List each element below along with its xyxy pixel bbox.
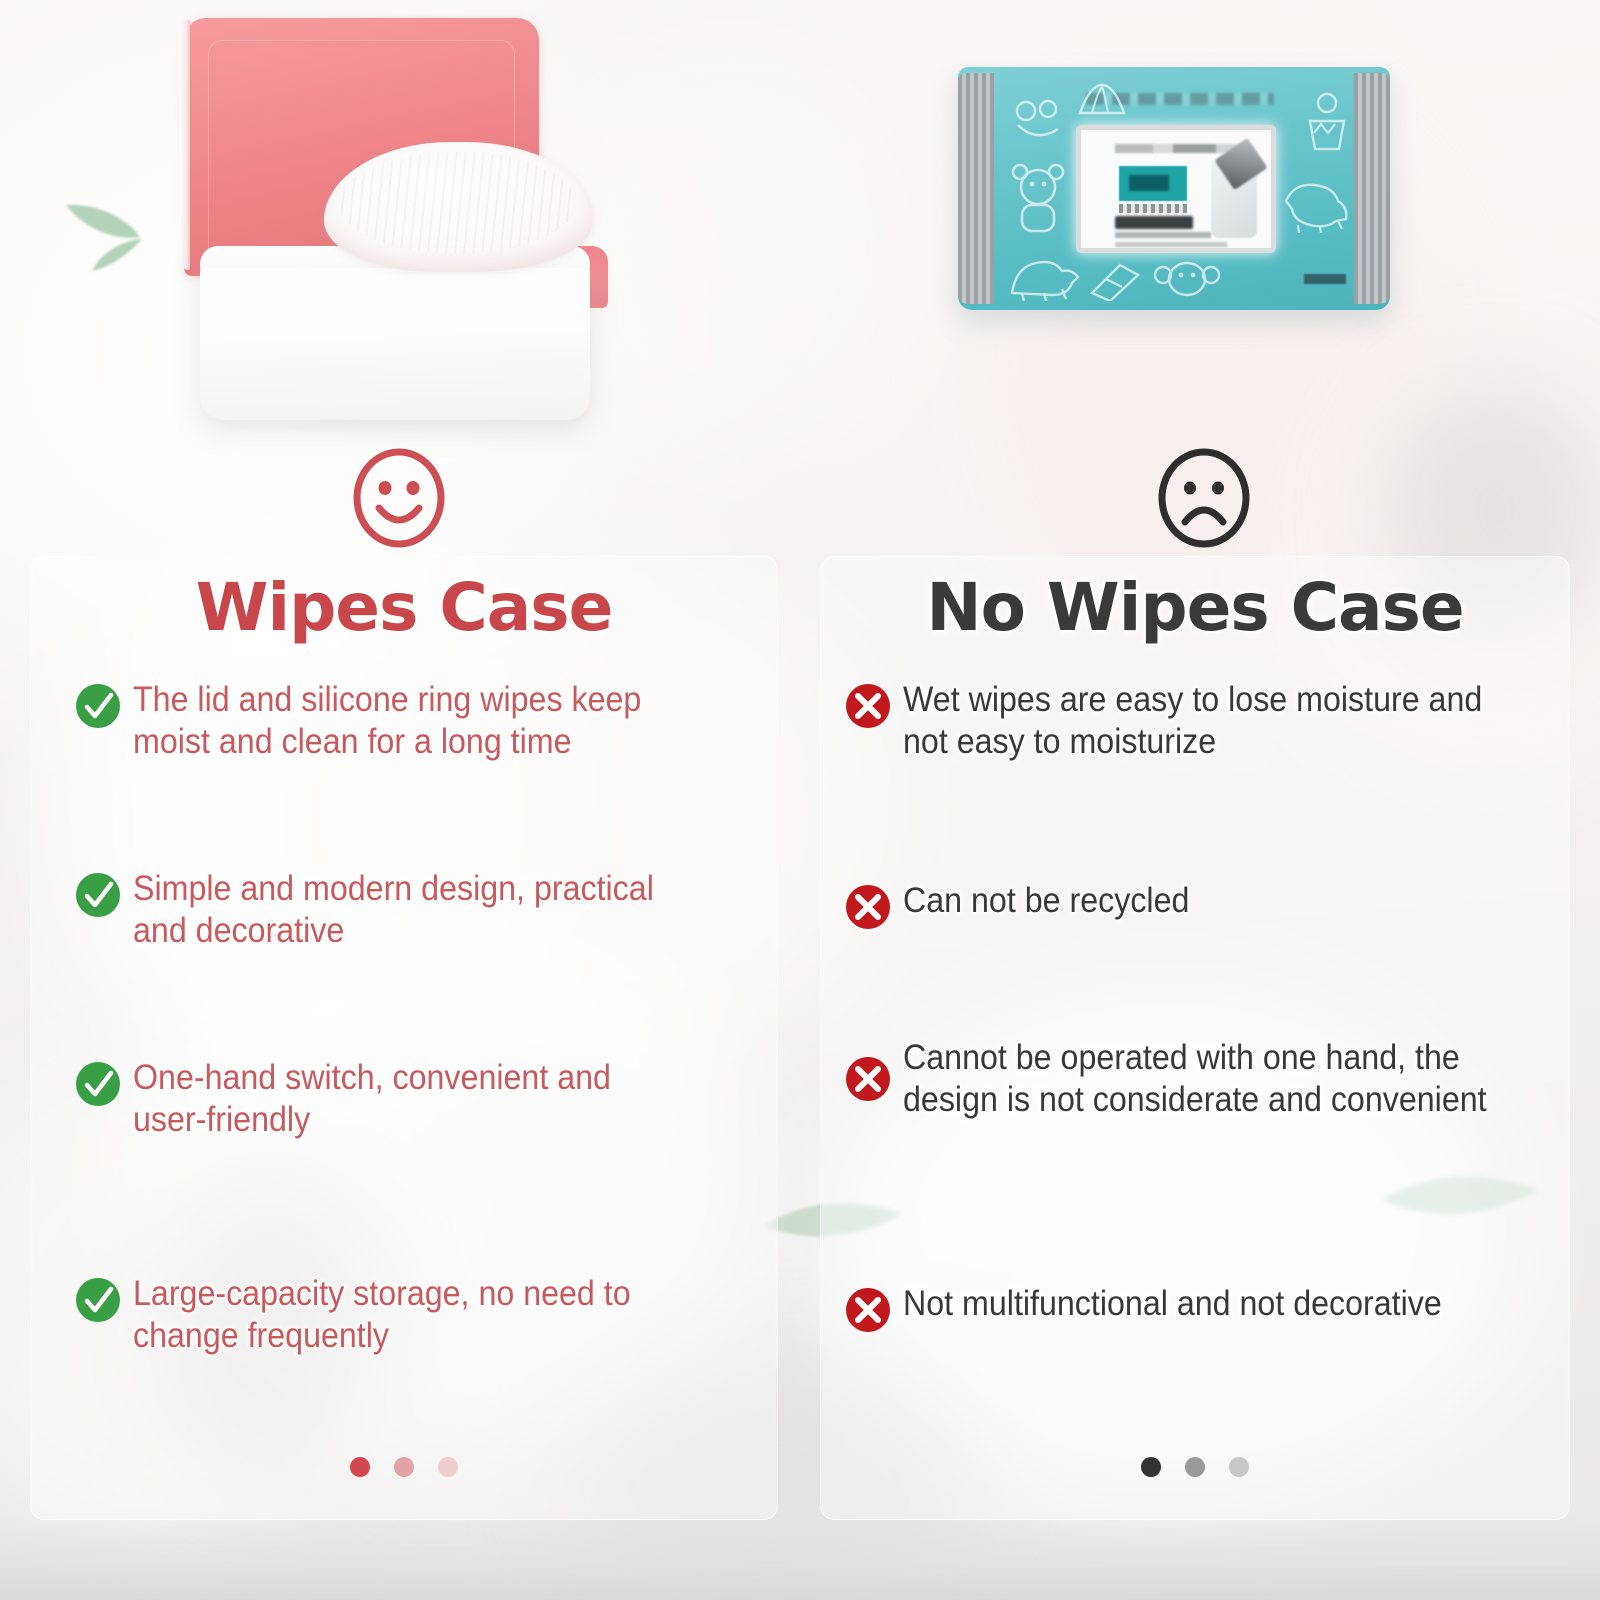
pagination-dot-3[interactable] bbox=[438, 1457, 458, 1477]
dinosaur-doodle-icon bbox=[1280, 171, 1356, 233]
cons-list: Wet wipes are easy to lose moisture and … bbox=[821, 679, 1569, 1429]
bear-doodle-icon bbox=[1004, 91, 1074, 153]
list-item: Not multifunctional and not decorative bbox=[845, 1283, 1575, 1338]
pack-right-seal bbox=[1354, 73, 1390, 304]
check-circle-icon bbox=[75, 1277, 121, 1328]
wipes-case-panel: Wipes Case The lid and silicone ring wip… bbox=[30, 556, 778, 1520]
x-circle-icon bbox=[845, 683, 891, 734]
list-item: Cannot be operated with one hand, the de… bbox=[845, 1037, 1545, 1122]
list-item-label: Simple and modern design, practical and … bbox=[133, 868, 705, 953]
wipes-case-product-image bbox=[176, 10, 646, 430]
frowny-face-icon bbox=[1154, 448, 1254, 548]
list-item: The lid and silicone ring wipes keep moi… bbox=[75, 679, 735, 764]
shell-doodle-icon bbox=[1074, 79, 1130, 119]
pagination-dot-3[interactable] bbox=[1229, 1457, 1249, 1477]
pagination-dot-1[interactable] bbox=[350, 1457, 370, 1477]
list-item-label: Not multifunctional and not decorative bbox=[903, 1283, 1442, 1325]
rattle-doodle-icon bbox=[1300, 89, 1354, 155]
x-circle-icon bbox=[845, 1287, 891, 1338]
background-shelf-shadow bbox=[0, 1514, 1600, 1600]
list-item-label: Wet wipes are easy to lose moisture and … bbox=[903, 679, 1494, 764]
wipes-softpack-product-image bbox=[940, 55, 1400, 330]
pack-product-label bbox=[1076, 125, 1276, 253]
check-circle-icon bbox=[75, 872, 121, 923]
monkey-doodle-icon bbox=[1150, 253, 1224, 305]
pagination-dot-1[interactable] bbox=[1141, 1457, 1161, 1477]
check-circle-icon bbox=[75, 1061, 121, 1112]
pagination-dots-left[interactable] bbox=[31, 1457, 777, 1477]
wipes-case-body bbox=[200, 262, 590, 420]
list-item: Wet wipes are easy to lose moisture and … bbox=[845, 679, 1545, 764]
pagination-dot-2[interactable] bbox=[1185, 1457, 1205, 1477]
pagination-dots-right[interactable] bbox=[821, 1457, 1569, 1477]
list-item-label: The lid and silicone ring wipes keep moi… bbox=[133, 679, 687, 764]
wipes-case-lid-edge bbox=[179, 20, 190, 270]
leaf-decoration-icon bbox=[58, 175, 188, 285]
list-item-label: Large-capacity storage, no need to chang… bbox=[133, 1273, 668, 1358]
smiley-face-icon bbox=[349, 448, 449, 548]
pack-left-seal bbox=[958, 73, 994, 304]
crayon-doodle-icon bbox=[1086, 259, 1144, 301]
list-item: One-hand switch, convenient and user-fri… bbox=[75, 1057, 715, 1142]
list-item-label: Can not be recycled bbox=[903, 880, 1189, 922]
page-title-right: No Wipes Case bbox=[821, 569, 1569, 646]
pagination-dot-2[interactable] bbox=[394, 1457, 414, 1477]
list-item: Large-capacity storage, no need to chang… bbox=[75, 1273, 715, 1358]
pack-brand-mark bbox=[1304, 274, 1346, 284]
dinosaur-doodle-icon bbox=[1004, 249, 1088, 301]
list-item-label: One-hand switch, convenient and user-fri… bbox=[133, 1057, 668, 1142]
list-item: Can not be recycled bbox=[845, 880, 1545, 935]
check-circle-icon bbox=[75, 683, 121, 734]
list-item: Simple and modern design, practical and … bbox=[75, 868, 755, 953]
no-wipes-case-panel: No Wipes Case Wet wipes are easy to lose… bbox=[820, 556, 1570, 1520]
page-title-left: Wipes Case bbox=[31, 569, 777, 646]
x-circle-icon bbox=[845, 884, 891, 935]
list-item-label: Cannot be operated with one hand, the de… bbox=[903, 1037, 1494, 1122]
pros-list: The lid and silicone ring wipes keep moi… bbox=[31, 679, 777, 1429]
teddy-bear-doodle-icon bbox=[1002, 163, 1074, 239]
x-circle-icon bbox=[845, 1056, 891, 1107]
wipes-softpack bbox=[958, 67, 1390, 310]
